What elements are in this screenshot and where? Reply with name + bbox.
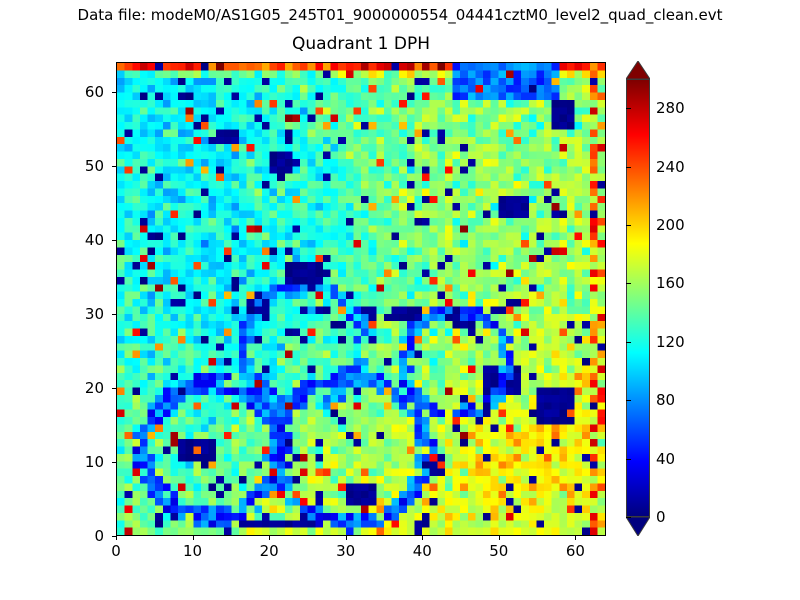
colorbar-tick-label: 160 <box>656 275 685 291</box>
x-tick-label: 40 <box>392 543 452 559</box>
figure-canvas: Data file: modeM0/AS1G05_245T01_90000005… <box>0 0 800 600</box>
colorbar-tick-label: 200 <box>656 217 685 233</box>
plot-title: Quadrant 1 DPH <box>116 34 606 54</box>
x-tick-label: 60 <box>545 543 605 559</box>
colorbar-tick-label: 280 <box>656 100 685 116</box>
colorbar-tick-label: 120 <box>656 334 685 350</box>
colorbar-gradient <box>627 80 649 516</box>
y-tick-mark <box>112 240 116 241</box>
colorbar-body <box>626 79 650 517</box>
data-file-suptitle: Data file: modeM0/AS1G05_245T01_90000005… <box>0 6 800 24</box>
y-tick-label: 50 <box>44 158 104 174</box>
x-tick-label: 10 <box>163 543 223 559</box>
y-tick-mark <box>112 536 116 537</box>
colorbar-tick-mark <box>626 400 631 401</box>
x-tick-mark <box>575 536 576 540</box>
x-tick-mark <box>346 536 347 540</box>
y-tick-mark <box>112 388 116 389</box>
x-tick-mark <box>422 536 423 540</box>
x-tick-mark <box>193 536 194 540</box>
colorbar-extend-min-arrow-icon <box>626 517 650 536</box>
colorbar-tick-mark <box>626 459 631 460</box>
x-tick-label: 50 <box>469 543 529 559</box>
colorbar-tick-mark <box>626 342 631 343</box>
x-tick-label: 20 <box>239 543 299 559</box>
colorbar[interactable] <box>626 79 650 517</box>
colorbar-extend-max-arrow-icon <box>626 61 650 79</box>
y-tick-label: 20 <box>44 380 104 396</box>
x-tick-mark <box>116 536 117 540</box>
y-tick-mark <box>112 92 116 93</box>
colorbar-tick-mark <box>626 108 631 109</box>
x-tick-label: 0 <box>86 543 146 559</box>
colorbar-tick-label: 240 <box>656 159 685 175</box>
y-tick-label: 60 <box>44 84 104 100</box>
colorbar-tick-label: 80 <box>656 392 675 408</box>
x-tick-mark <box>269 536 270 540</box>
y-tick-label: 40 <box>44 232 104 248</box>
colorbar-tick-mark <box>626 517 631 518</box>
y-tick-mark <box>112 166 116 167</box>
y-tick-mark <box>112 314 116 315</box>
colorbar-tick-mark <box>626 167 631 168</box>
heatmap-axes[interactable] <box>116 62 606 536</box>
colorbar-tick-mark <box>626 225 631 226</box>
x-tick-label: 30 <box>316 543 376 559</box>
y-tick-label: 0 <box>44 528 104 544</box>
colorbar-tick-label: 40 <box>656 451 675 467</box>
y-tick-label: 30 <box>44 306 104 322</box>
x-tick-mark <box>499 536 500 540</box>
colorbar-tick-label: 0 <box>656 509 666 525</box>
y-tick-mark <box>112 462 116 463</box>
y-tick-label: 10 <box>44 454 104 470</box>
colorbar-tick-mark <box>626 283 631 284</box>
detector-pixel-heatmap[interactable] <box>117 63 605 535</box>
